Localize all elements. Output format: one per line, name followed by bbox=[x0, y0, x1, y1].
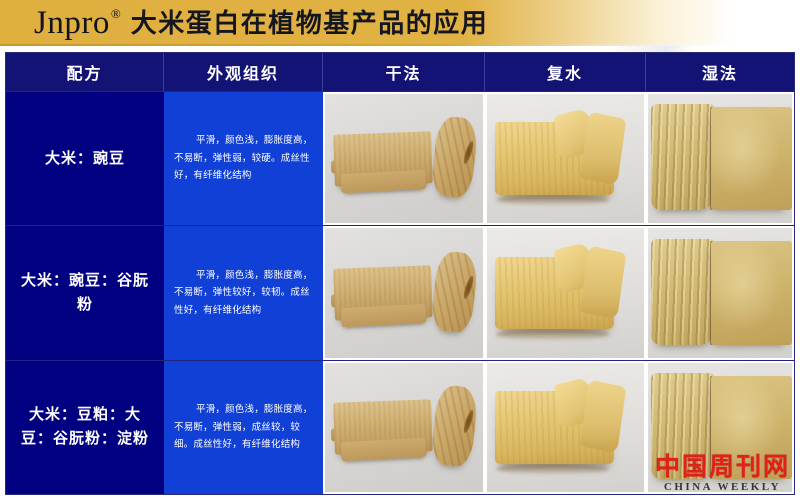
protein-roll-core bbox=[462, 141, 475, 166]
wet-extruded-protein-photo bbox=[648, 363, 792, 492]
photo-shadow bbox=[496, 464, 609, 474]
title-banner-content: Jnpro ® 大米蛋白在植物基产品的应用 bbox=[34, 0, 488, 46]
banner-underline bbox=[0, 44, 800, 46]
dry-method-photo-cell bbox=[323, 361, 485, 494]
formula-cell: 大米：豌豆：谷朊粉 bbox=[6, 226, 164, 359]
protein-slab-middle bbox=[340, 169, 426, 193]
photo-shadow bbox=[496, 329, 609, 339]
dry-textured-protein-photo bbox=[325, 94, 483, 223]
dry-textured-protein-photo bbox=[325, 363, 483, 492]
fibrous-strand-bundle bbox=[651, 373, 714, 479]
smooth-protein-block bbox=[711, 107, 792, 210]
appearance-description-cell: 平滑，颜色浅，膨胀度高，不易断，弹性弱，成丝较，较细。成丝性好，有纤维化结构 bbox=[164, 361, 323, 494]
column-header-rehydration: 复水 bbox=[485, 53, 646, 91]
smooth-protein-block bbox=[711, 376, 792, 479]
column-header-dry-method: 干法 bbox=[323, 53, 485, 91]
wet-extruded-protein-photo bbox=[648, 94, 792, 223]
rehydration-photo-cell bbox=[485, 226, 646, 359]
appearance-description-cell: 平滑，颜色浅，膨胀度高，不易断，弹性较好，较韧。成丝性好，有纤维化结构 bbox=[164, 226, 323, 359]
appearance-description-cell: 平滑，颜色浅，膨胀度高，不易断，弹性弱，较硬。成丝性好，有纤维化结构 bbox=[164, 92, 323, 225]
dry-method-photo-cell bbox=[323, 226, 485, 359]
protein-roll bbox=[430, 384, 479, 468]
dry-method-photo-cell bbox=[323, 92, 485, 225]
table-header-row: 配方 外观组织 干法 复水 湿法 bbox=[6, 53, 794, 91]
table-row: 大米：豆粕：大豆：谷朊粉：淀粉 平滑，颜色浅，膨胀度高，不易断，弹性弱，成丝较，… bbox=[6, 360, 794, 494]
wet-method-photo-cell bbox=[646, 92, 794, 225]
protein-roll-core bbox=[462, 410, 475, 435]
protein-roll bbox=[430, 115, 479, 199]
rehydrated-protein-photo bbox=[487, 363, 644, 492]
title-banner: Jnpro ® 大米蛋白在植物基产品的应用 bbox=[0, 0, 800, 46]
page-title: 大米蛋白在植物基产品的应用 bbox=[131, 10, 489, 36]
wet-extruded-protein-photo bbox=[648, 228, 792, 357]
rehydrated-protein-photo bbox=[487, 228, 644, 357]
formula-cell: 大米：豌豆 bbox=[6, 92, 164, 225]
wet-method-photo-cell bbox=[646, 226, 794, 359]
registered-trademark-icon: ® bbox=[111, 6, 121, 22]
wet-method-photo-cell bbox=[646, 361, 794, 494]
rehydrated-protein-photo bbox=[487, 94, 644, 223]
rehydrated-sheet-flap-right bbox=[580, 111, 626, 185]
table-row: 大米：豌豆：谷朊粉 平滑，颜色浅，膨胀度高，不易断，弹性较好，较韧。成丝性好，有… bbox=[6, 225, 794, 359]
protein-roll-core bbox=[462, 275, 475, 300]
column-header-appearance: 外观组织 bbox=[164, 53, 323, 91]
rehydrated-sheet-flap-right bbox=[580, 380, 626, 454]
formula-cell: 大米：豆粕：大豆：谷朊粉：淀粉 bbox=[6, 361, 164, 494]
smooth-protein-block bbox=[711, 241, 792, 344]
protein-roll bbox=[430, 250, 479, 334]
protein-slab-middle bbox=[340, 304, 426, 328]
table-row: 大米：豌豆 平滑，颜色浅，膨胀度高，不易断，弹性弱，较硬。成丝性好，有纤维化结构 bbox=[6, 91, 794, 225]
fibrous-strand-bundle bbox=[651, 104, 714, 210]
dry-textured-protein-photo bbox=[325, 228, 483, 357]
column-header-wet-method: 湿法 bbox=[646, 53, 794, 91]
rehydration-photo-cell bbox=[485, 92, 646, 225]
column-header-formula: 配方 bbox=[6, 53, 164, 91]
protein-slab-middle bbox=[340, 438, 426, 462]
rehydration-photo-cell bbox=[485, 361, 646, 494]
brand-logo: Jnpro bbox=[34, 7, 110, 40]
formulation-comparison-table: 配方 外观组织 干法 复水 湿法 大米：豌豆 平滑，颜色浅，膨胀度高，不易断，弹… bbox=[5, 52, 795, 495]
rehydrated-sheet-flap-right bbox=[580, 245, 626, 319]
photo-shadow bbox=[496, 195, 609, 205]
fibrous-strand-bundle bbox=[651, 239, 714, 345]
